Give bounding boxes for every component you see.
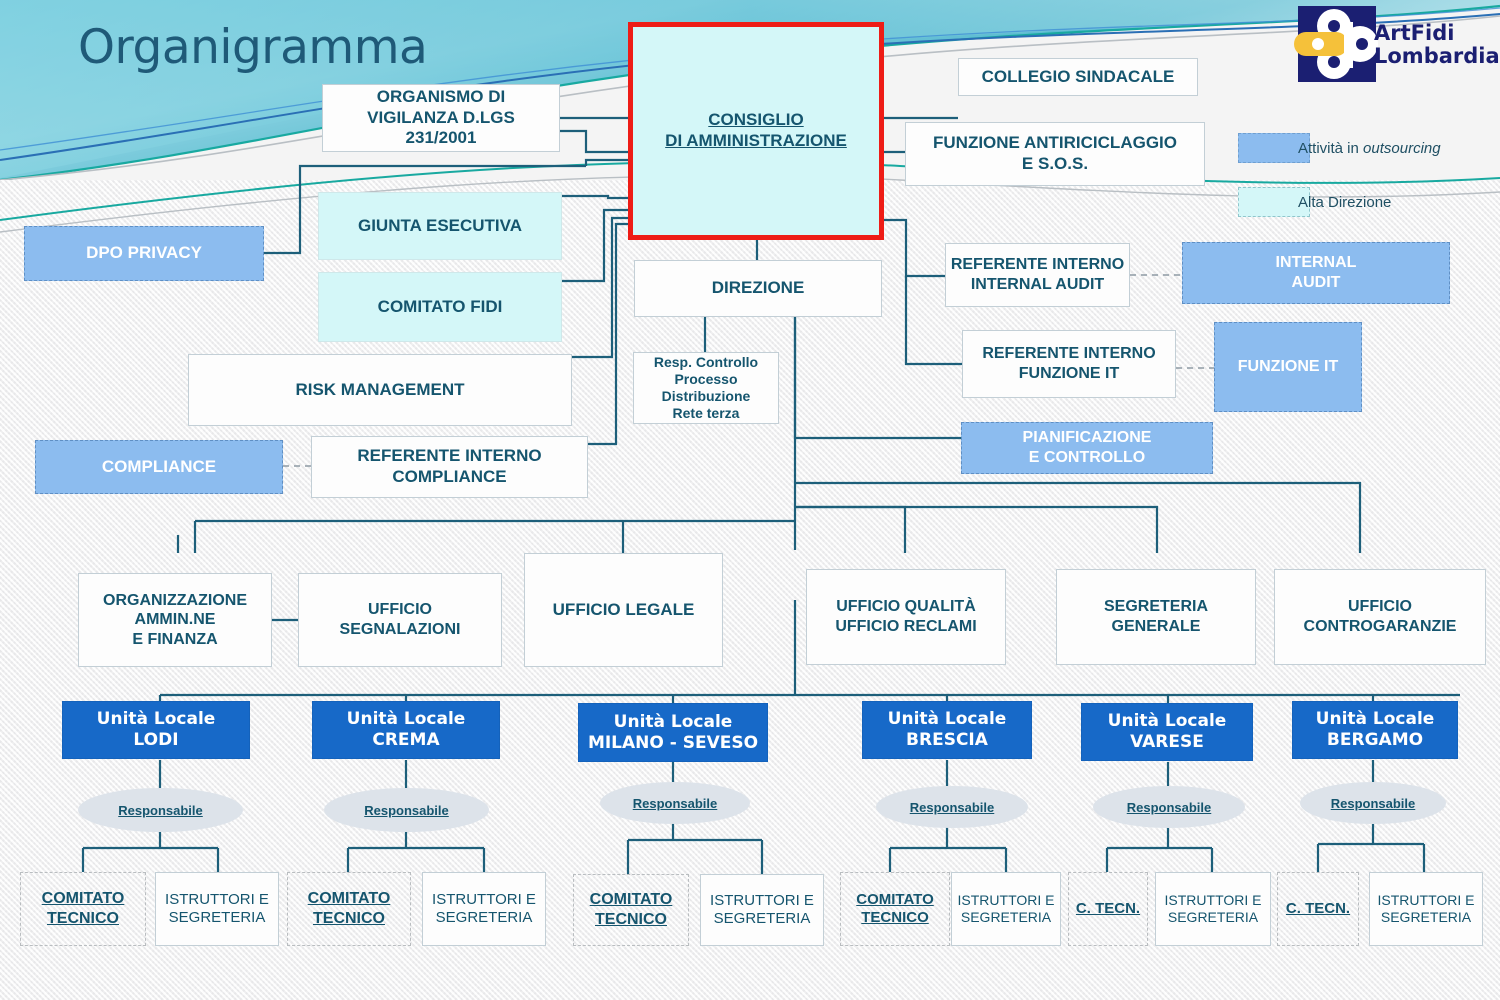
node-risk-management[interactable]: RISK MANAGEMENT bbox=[188, 354, 572, 426]
node-unita-locale-brescia[interactable]: Unità LocaleBRESCIA bbox=[862, 701, 1032, 759]
organigramma-slide: Organigramma ArtFidi Lombardia Attività … bbox=[0, 0, 1500, 1000]
node-comitato-tecnico-varese-label: C. TECN. bbox=[1076, 900, 1140, 918]
node-compliance[interactable]: COMPLIANCE bbox=[35, 440, 283, 494]
node-referente-funzione-it-label: REFERENTE INTERNOFUNZIONE IT bbox=[982, 344, 1155, 383]
node-unita-locale-varese-label: Unità LocaleVARESE bbox=[1108, 711, 1227, 752]
node-internal-audit[interactable]: INTERNALAUDIT bbox=[1182, 242, 1450, 304]
responsabile-bergamo-label: Responsabile bbox=[1331, 796, 1416, 811]
node-ufficio-controgaranzie[interactable]: UFFICIOCONTROGARANZIE bbox=[1274, 569, 1486, 665]
node-collegio-sindacale-label: COLLEGIO SINDACALE bbox=[982, 67, 1175, 88]
node-pianificazione-controllo-label: PIANIFICAZIONEE CONTROLLO bbox=[1023, 428, 1152, 467]
node-consiglio-amministrazione-label: CONSIGLIODI AMMINISTRAZIONE bbox=[665, 110, 847, 151]
node-unita-locale-milano-seveso[interactable]: Unità LocaleMILANO - SEVESO bbox=[578, 703, 768, 762]
node-istruttori-segreteria-milano-seveso-label: ISTRUTTORI ESEGRETERIA bbox=[710, 892, 814, 929]
responsabile-varese[interactable]: Responsabile bbox=[1093, 786, 1245, 828]
node-istruttori-segreteria-milano-seveso[interactable]: ISTRUTTORI ESEGRETERIA bbox=[700, 874, 824, 946]
page-title: Organigramma bbox=[78, 20, 427, 75]
responsabile-bergamo[interactable]: Responsabile bbox=[1300, 782, 1446, 824]
node-collegio-sindacale[interactable]: COLLEGIO SINDACALE bbox=[958, 58, 1198, 96]
node-ufficio-legale-label: UFFICIO LEGALE bbox=[553, 600, 695, 621]
responsabile-milano-seveso[interactable]: Responsabile bbox=[600, 782, 750, 824]
brand-line-2: Lombardia bbox=[1374, 45, 1500, 68]
node-organismo-vigilanza-label: ORGANISMO DIVIGILANZA D.LGS231/2001 bbox=[367, 87, 515, 149]
node-istruttori-segreteria-varese[interactable]: ISTRUTTORI ESEGRETERIA bbox=[1155, 872, 1271, 946]
node-unita-locale-milano-seveso-label: Unità LocaleMILANO - SEVESO bbox=[588, 712, 758, 753]
node-resp-controllo-processo-label: Resp. ControlloProcessoDistribuzioneRete… bbox=[654, 354, 758, 422]
node-comitato-tecnico-brescia[interactable]: COMITATOTECNICO bbox=[840, 872, 950, 946]
node-segreteria-generale[interactable]: SEGRETERIA GENERALE bbox=[1056, 569, 1256, 665]
node-istruttori-segreteria-varese-label: ISTRUTTORI ESEGRETERIA bbox=[1165, 892, 1262, 926]
responsabile-varese-label: Responsabile bbox=[1127, 800, 1212, 815]
node-comitato-tecnico-crema[interactable]: COMITATOTECNICO bbox=[287, 872, 411, 946]
node-istruttori-segreteria-crema-label: ISTRUTTORI ESEGRETERIA bbox=[432, 891, 536, 928]
node-istruttori-segreteria-lodi-label: ISTRUTTORI ESEGRETERIA bbox=[165, 891, 269, 928]
node-unita-locale-varese[interactable]: Unità LocaleVARESE bbox=[1081, 703, 1253, 761]
node-comitato-tecnico-crema-label: COMITATOTECNICO bbox=[308, 889, 391, 928]
node-unita-locale-crema[interactable]: Unità LocaleCREMA bbox=[312, 701, 500, 759]
node-istruttori-segreteria-bergamo[interactable]: ISTRUTTORI ESEGRETERIA bbox=[1369, 872, 1483, 946]
node-funzione-antiriciclaggio-label: FUNZIONE ANTIRICICLAGGIOE S.O.S. bbox=[933, 133, 1177, 174]
legend-label-alta-direzione: Alta Direzione bbox=[1298, 194, 1391, 211]
node-ufficio-segnalazioni[interactable]: UFFICIOSEGNALAZIONI bbox=[298, 573, 502, 667]
node-comitato-tecnico-brescia-label: COMITATOTECNICO bbox=[856, 891, 934, 928]
responsabile-brescia[interactable]: Responsabile bbox=[876, 786, 1028, 828]
node-direzione-label: DIREZIONE bbox=[712, 278, 805, 299]
node-comitato-tecnico-lodi[interactable]: COMITATOTECNICO bbox=[20, 872, 146, 946]
node-organismo-vigilanza[interactable]: ORGANISMO DIVIGILANZA D.LGS231/2001 bbox=[322, 84, 560, 152]
node-internal-audit-label: INTERNALAUDIT bbox=[1276, 253, 1357, 292]
node-giunta-esecutiva-label: GIUNTA ESECUTIVA bbox=[358, 216, 522, 237]
responsabile-milano-seveso-label: Responsabile bbox=[633, 796, 718, 811]
node-organizzazione-amministrazione-finanza[interactable]: ORGANIZZAZIONEAMMIN.NEE FINANZA bbox=[78, 573, 272, 667]
node-unita-locale-bergamo-label: Unità LocaleBERGAMO bbox=[1316, 709, 1435, 750]
node-risk-management-label: RISK MANAGEMENT bbox=[295, 380, 464, 401]
responsabile-crema-label: Responsabile bbox=[364, 803, 449, 818]
node-dpo-privacy-label: DPO PRIVACY bbox=[86, 243, 202, 264]
node-referente-internal-audit-label: REFERENTE INTERNOINTERNAL AUDIT bbox=[951, 255, 1124, 294]
node-compliance-label: COMPLIANCE bbox=[102, 457, 216, 478]
responsabile-lodi[interactable]: Responsabile bbox=[78, 788, 243, 832]
node-segreteria-generale-label: SEGRETERIA GENERALE bbox=[1061, 597, 1251, 636]
node-comitato-tecnico-milano-seveso-label: COMITATOTECNICO bbox=[590, 890, 673, 929]
node-istruttori-segreteria-lodi[interactable]: ISTRUTTORI ESEGRETERIA bbox=[155, 872, 279, 946]
node-comitato-tecnico-varese[interactable]: C. TECN. bbox=[1068, 872, 1148, 946]
node-comitato-tecnico-lodi-label: COMITATOTECNICO bbox=[42, 889, 125, 928]
node-funzione-it[interactable]: FUNZIONE IT bbox=[1214, 322, 1362, 412]
node-dpo-privacy[interactable]: DPO PRIVACY bbox=[24, 226, 264, 281]
node-direzione[interactable]: DIREZIONE bbox=[634, 260, 882, 317]
node-ufficio-qualita-reclami-label: UFFICIO QUALITÀUFFICIO RECLAMI bbox=[835, 597, 976, 636]
node-funzione-it-label: FUNZIONE IT bbox=[1238, 357, 1338, 377]
node-giunta-esecutiva[interactable]: GIUNTA ESECUTIVA bbox=[318, 192, 562, 260]
brand-name: ArtFidi Lombardia bbox=[1374, 22, 1500, 67]
legend-label-outsourcing-plain: Attività in bbox=[1298, 140, 1363, 157]
node-istruttori-segreteria-brescia[interactable]: ISTRUTTORI ESEGRETERIA bbox=[951, 872, 1061, 946]
node-ufficio-qualita-reclami[interactable]: UFFICIO QUALITÀUFFICIO RECLAMI bbox=[806, 569, 1006, 665]
legend-label-outsourcing-italic: outsourcing bbox=[1363, 140, 1441, 157]
node-unita-locale-lodi[interactable]: Unità LocaleLODI bbox=[62, 701, 250, 759]
node-organizzazione-amministrazione-finanza-label: ORGANIZZAZIONEAMMIN.NEE FINANZA bbox=[103, 591, 247, 650]
responsabile-crema[interactable]: Responsabile bbox=[324, 788, 489, 832]
node-pianificazione-controllo[interactable]: PIANIFICAZIONEE CONTROLLO bbox=[961, 422, 1213, 474]
responsabile-lodi-label: Responsabile bbox=[118, 803, 203, 818]
node-istruttori-segreteria-bergamo-label: ISTRUTTORI ESEGRETERIA bbox=[1378, 892, 1475, 926]
node-funzione-antiriciclaggio[interactable]: FUNZIONE ANTIRICICLAGGIOE S.O.S. bbox=[905, 122, 1205, 186]
node-istruttori-segreteria-crema[interactable]: ISTRUTTORI ESEGRETERIA bbox=[422, 872, 546, 946]
node-comitato-tecnico-milano-seveso[interactable]: COMITATOTECNICO bbox=[573, 874, 689, 946]
node-comitato-tecnico-bergamo[interactable]: C. TECN. bbox=[1277, 872, 1359, 946]
node-resp-controllo-processo[interactable]: Resp. ControlloProcessoDistribuzioneRete… bbox=[633, 352, 779, 424]
node-comitato-fidi[interactable]: COMITATO FIDI bbox=[318, 272, 562, 342]
node-referente-funzione-it[interactable]: REFERENTE INTERNOFUNZIONE IT bbox=[962, 330, 1176, 398]
responsabile-brescia-label: Responsabile bbox=[910, 800, 995, 815]
node-unita-locale-bergamo[interactable]: Unità LocaleBERGAMO bbox=[1292, 701, 1458, 759]
node-ufficio-legale[interactable]: UFFICIO LEGALE bbox=[524, 553, 723, 667]
node-comitato-fidi-label: COMITATO FIDI bbox=[378, 297, 503, 318]
node-unita-locale-crema-label: Unità LocaleCREMA bbox=[347, 709, 466, 750]
node-comitato-tecnico-bergamo-label: C. TECN. bbox=[1286, 900, 1350, 918]
node-referente-compliance[interactable]: REFERENTE INTERNOCOMPLIANCE bbox=[311, 436, 588, 498]
node-istruttori-segreteria-brescia-label: ISTRUTTORI ESEGRETERIA bbox=[958, 892, 1055, 926]
node-unita-locale-brescia-label: Unità LocaleBRESCIA bbox=[888, 709, 1007, 750]
node-referente-compliance-label: REFERENTE INTERNOCOMPLIANCE bbox=[357, 446, 541, 487]
node-ufficio-controgaranzie-label: UFFICIOCONTROGARANZIE bbox=[1304, 597, 1457, 636]
node-unita-locale-lodi-label: Unità LocaleLODI bbox=[97, 709, 216, 750]
node-consiglio-amministrazione[interactable]: CONSIGLIODI AMMINISTRAZIONE bbox=[628, 22, 884, 240]
node-referente-internal-audit[interactable]: REFERENTE INTERNOINTERNAL AUDIT bbox=[945, 243, 1130, 307]
legend-label-outsourcing: Attività in outsourcing bbox=[1298, 140, 1441, 157]
brand-line-1: ArtFidi bbox=[1374, 22, 1500, 45]
node-ufficio-segnalazioni-label: UFFICIOSEGNALAZIONI bbox=[340, 600, 461, 639]
